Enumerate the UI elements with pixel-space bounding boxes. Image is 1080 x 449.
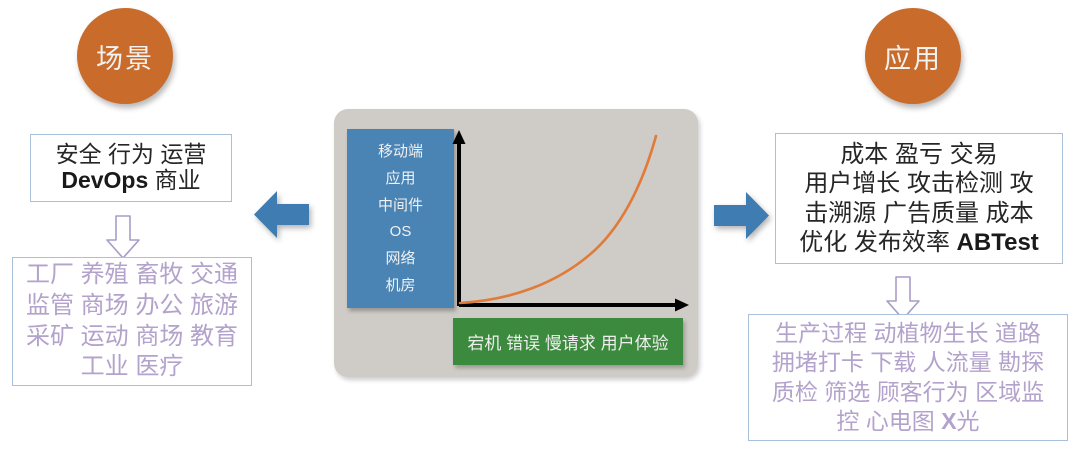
application-usecases-line4-rest: 控 心电图 — [836, 408, 941, 434]
scenario-industries-line4: 工业 医疗 — [81, 353, 184, 380]
stack-item-0: 移动端 — [378, 144, 423, 159]
application-usecases-line4-bold: X — [941, 408, 956, 434]
scenario-domains-line2-rest: 商业 — [148, 167, 200, 193]
arrow-left-block-icon — [253, 186, 311, 243]
stack-item-3: OS — [390, 224, 412, 239]
arrow-down-outline-icon — [104, 214, 142, 260]
application-metrics-line3: 击溯源 广告质量 成本 — [804, 200, 1033, 227]
growth-chart — [440, 124, 695, 314]
scenario-circle: 场景 — [77, 8, 173, 104]
application-metrics-line4-bold: ABTest — [957, 229, 1039, 256]
application-circle-label: 应用 — [884, 37, 942, 76]
chart-y-axis-arrowhead — [453, 130, 466, 144]
scenario-industries-line2: 监管 商场 办公 旅游 — [26, 292, 238, 319]
arrow-right-block-icon — [712, 188, 770, 243]
stack-item-4: 网络 — [385, 251, 415, 266]
symptoms-bar-label: 宕机 错误 慢请求 用户体验 — [467, 329, 668, 354]
scenario-industries-line3: 采矿 运动 商场 教育 — [26, 323, 238, 350]
scenario-circle-label: 场景 — [96, 37, 154, 76]
scenario-domains-box: 安全 行为 运营 DevOps 商业 — [30, 134, 232, 202]
stack-item-2: 中间件 — [378, 198, 423, 213]
scenario-industries-box: 工厂 养殖 畜牧 交通 监管 商场 办公 旅游 采矿 运动 商场 教育 工业 医… — [12, 257, 252, 386]
application-usecases-line2: 拥堵打卡 下载 人流量 勘探 — [772, 349, 1044, 375]
application-usecases-line3: 质检 筛选 顾客行为 区域监 — [772, 379, 1044, 405]
application-usecases-box: 生产过程 动植物生长 道路 拥堵打卡 下载 人流量 勘探 质检 筛选 顾客行为 … — [748, 314, 1068, 441]
left-flow-arrow — [253, 186, 311, 248]
application-usecases-line4-tail: 光 — [957, 408, 980, 434]
application-metrics-line2: 用户增长 攻击检测 攻 — [804, 170, 1033, 197]
chart-curve-line — [460, 136, 656, 303]
right-flow-arrow — [712, 188, 770, 248]
application-circle: 应用 — [865, 8, 961, 104]
application-usecases-line1: 生产过程 动植物生长 道路 — [775, 320, 1041, 346]
tech-stack-box: 移动端 应用 中间件 OS 网络 机房 — [347, 129, 454, 308]
stack-item-5: 机房 — [385, 278, 415, 293]
scenario-domains-line1: 安全 行为 运营 — [56, 141, 207, 167]
application-metrics-box: 成本 盈亏 交易 用户增长 攻击检测 攻 击溯源 广告质量 成本 优化 发布效率… — [775, 133, 1063, 264]
scenario-industries-line1: 工厂 养殖 畜牧 交通 — [26, 261, 238, 288]
application-metrics-line4-rest: 优化 发布效率 — [799, 229, 956, 256]
symptoms-bar: 宕机 错误 慢请求 用户体验 — [453, 318, 683, 365]
application-metrics-line1: 成本 盈亏 交易 — [840, 141, 997, 168]
stack-item-1: 应用 — [385, 171, 415, 186]
scenario-domains-line2-bold: DevOps — [61, 167, 148, 193]
chart-x-axis-arrowhead — [675, 299, 689, 312]
